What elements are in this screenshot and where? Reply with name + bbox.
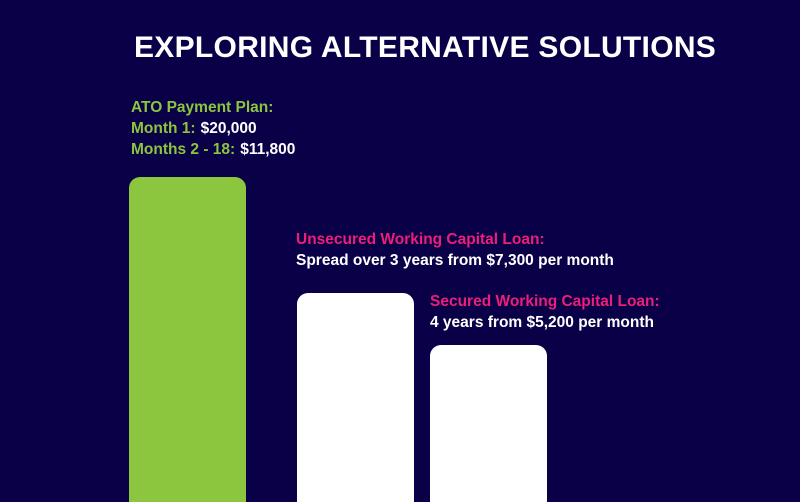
annotation-ato-payment-plan: ATO Payment Plan: Month 1:$20,000 Months… bbox=[131, 97, 295, 160]
annotation-secured-working-capital-loan: Secured Working Capital Loan: 4 years fr… bbox=[430, 291, 660, 333]
annotation-ato-months-2-18-label: Months 2 - 18: bbox=[131, 141, 235, 158]
annotation-ato-month-1-value: $20,000 bbox=[201, 120, 257, 137]
annotation-ato-month-1-label: Month 1: bbox=[131, 120, 196, 137]
annotation-secured-heading: Secured Working Capital Loan: bbox=[430, 291, 660, 312]
infographic-canvas: EXPLORING ALTERNATIVE SOLUTIONS ATO Paym… bbox=[0, 0, 800, 502]
annotation-unsecured-heading: Unsecured Working Capital Loan: bbox=[296, 229, 614, 250]
annotation-secured-detail: 4 years from $5,200 per month bbox=[430, 312, 660, 333]
bar-ato-payment-plan bbox=[129, 177, 246, 502]
page-title: EXPLORING ALTERNATIVE SOLUTIONS bbox=[134, 32, 716, 64]
annotation-ato-months-2-18: Months 2 - 18:$11,800 bbox=[131, 139, 295, 160]
bar-unsecured-working-capital-loan bbox=[297, 293, 414, 502]
annotation-unsecured-working-capital-loan: Unsecured Working Capital Loan: Spread o… bbox=[296, 229, 614, 271]
annotation-ato-month-1: Month 1:$20,000 bbox=[131, 118, 295, 139]
annotation-unsecured-detail: Spread over 3 years from $7,300 per mont… bbox=[296, 250, 614, 271]
bar-secured-working-capital-loan bbox=[430, 345, 547, 502]
annotation-ato-months-2-18-value: $11,800 bbox=[240, 141, 295, 158]
annotation-ato-heading: ATO Payment Plan: bbox=[131, 97, 295, 118]
